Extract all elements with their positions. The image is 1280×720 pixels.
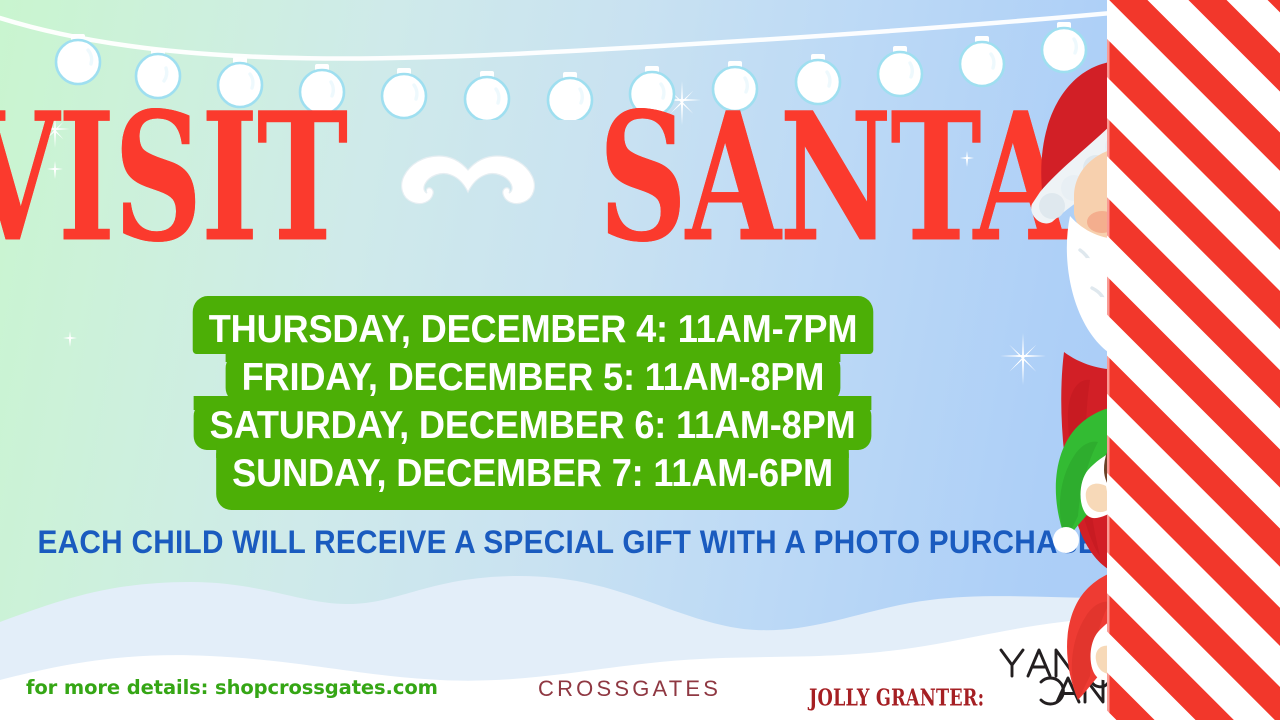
right-character-art [1030,0,1280,720]
santa-visit-poster: VISIT SANTA THURSDAY, DECEMBER 4: 11AM-7… [0,0,1280,720]
more-details-link[interactable]: for more details: shopcrossgates.com [26,676,438,699]
schedule-line: SATURDAY, DECEMBER 6: 11AM-8PM [194,402,872,450]
candy-cane-stripe-panel-icon [1107,0,1280,720]
headline-word-visit: VISIT [0,90,347,267]
headline-word-santa: SANTA [598,90,1067,267]
page-title: VISIT SANTA [0,108,1040,248]
schedule-block: THURSDAY, DECEMBER 4: 11AM-7PM FRIDAY, D… [0,296,1065,510]
crossgates-logo: CROSSGATES [538,676,721,702]
sponsor-label: JOLLY GRANTER: [809,684,984,712]
schedule-line: THURSDAY, DECEMBER 4: 11AM-7PM [192,296,873,354]
schedule-line: FRIDAY, DECEMBER 5: 11AM-8PM [225,354,840,402]
schedule-line: SUNDAY, DECEMBER 7: 11AM-6PM [216,450,849,510]
mustache-icon [393,140,543,230]
